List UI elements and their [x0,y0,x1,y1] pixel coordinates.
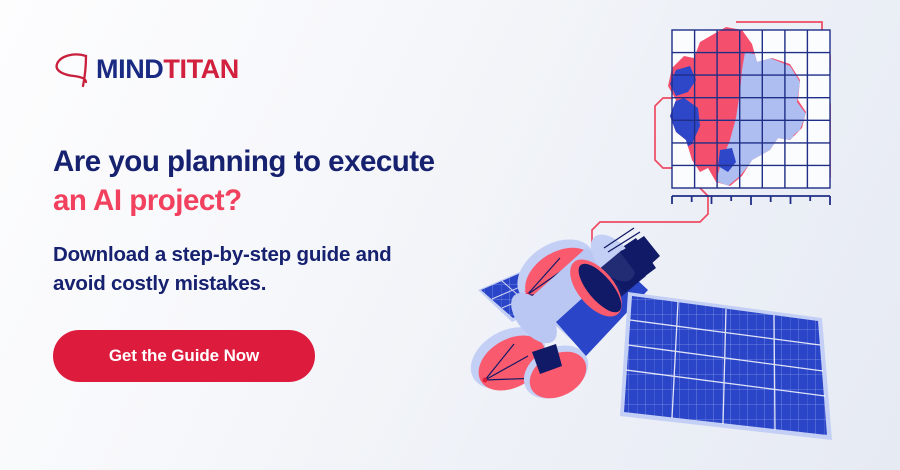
promo-banner: MINDTITAN Are you planning to execute an… [0,0,900,470]
solar-panel-left [478,252,600,322]
brand-logo[interactable]: MINDTITAN [52,48,239,90]
dish-antenna-lower-left [460,315,597,410]
map-regions [660,20,850,200]
swoosh-mark-icon [52,48,92,90]
get-the-guide-button[interactable]: Get the Guide Now [53,330,315,382]
dish-antenna-upper-left [506,226,618,318]
subheadline-line-1: Download a step-by-step guide and [53,240,392,269]
subheadline-line-2: avoid costly mistakes. [53,269,392,298]
satellite-body [502,226,660,356]
headline-line-1: Are you planning to execute [53,142,435,181]
headline: Are you planning to execute an AI projec… [53,142,435,220]
brand-wordmark: MINDTITAN [96,56,239,83]
subheadline: Download a step-by-step guide and avoid … [53,240,392,298]
circuit-trace [548,22,830,258]
brand-word-mind: MIND [96,54,163,84]
map-axis [672,196,830,205]
map-gridlines [672,30,830,188]
headline-line-2: an AI project? [53,181,435,220]
satellite-illustration [460,226,832,440]
choropleth-map-grid [660,20,850,205]
brand-word-titan: TITAN [163,54,238,84]
solar-panel-right [620,292,832,440]
